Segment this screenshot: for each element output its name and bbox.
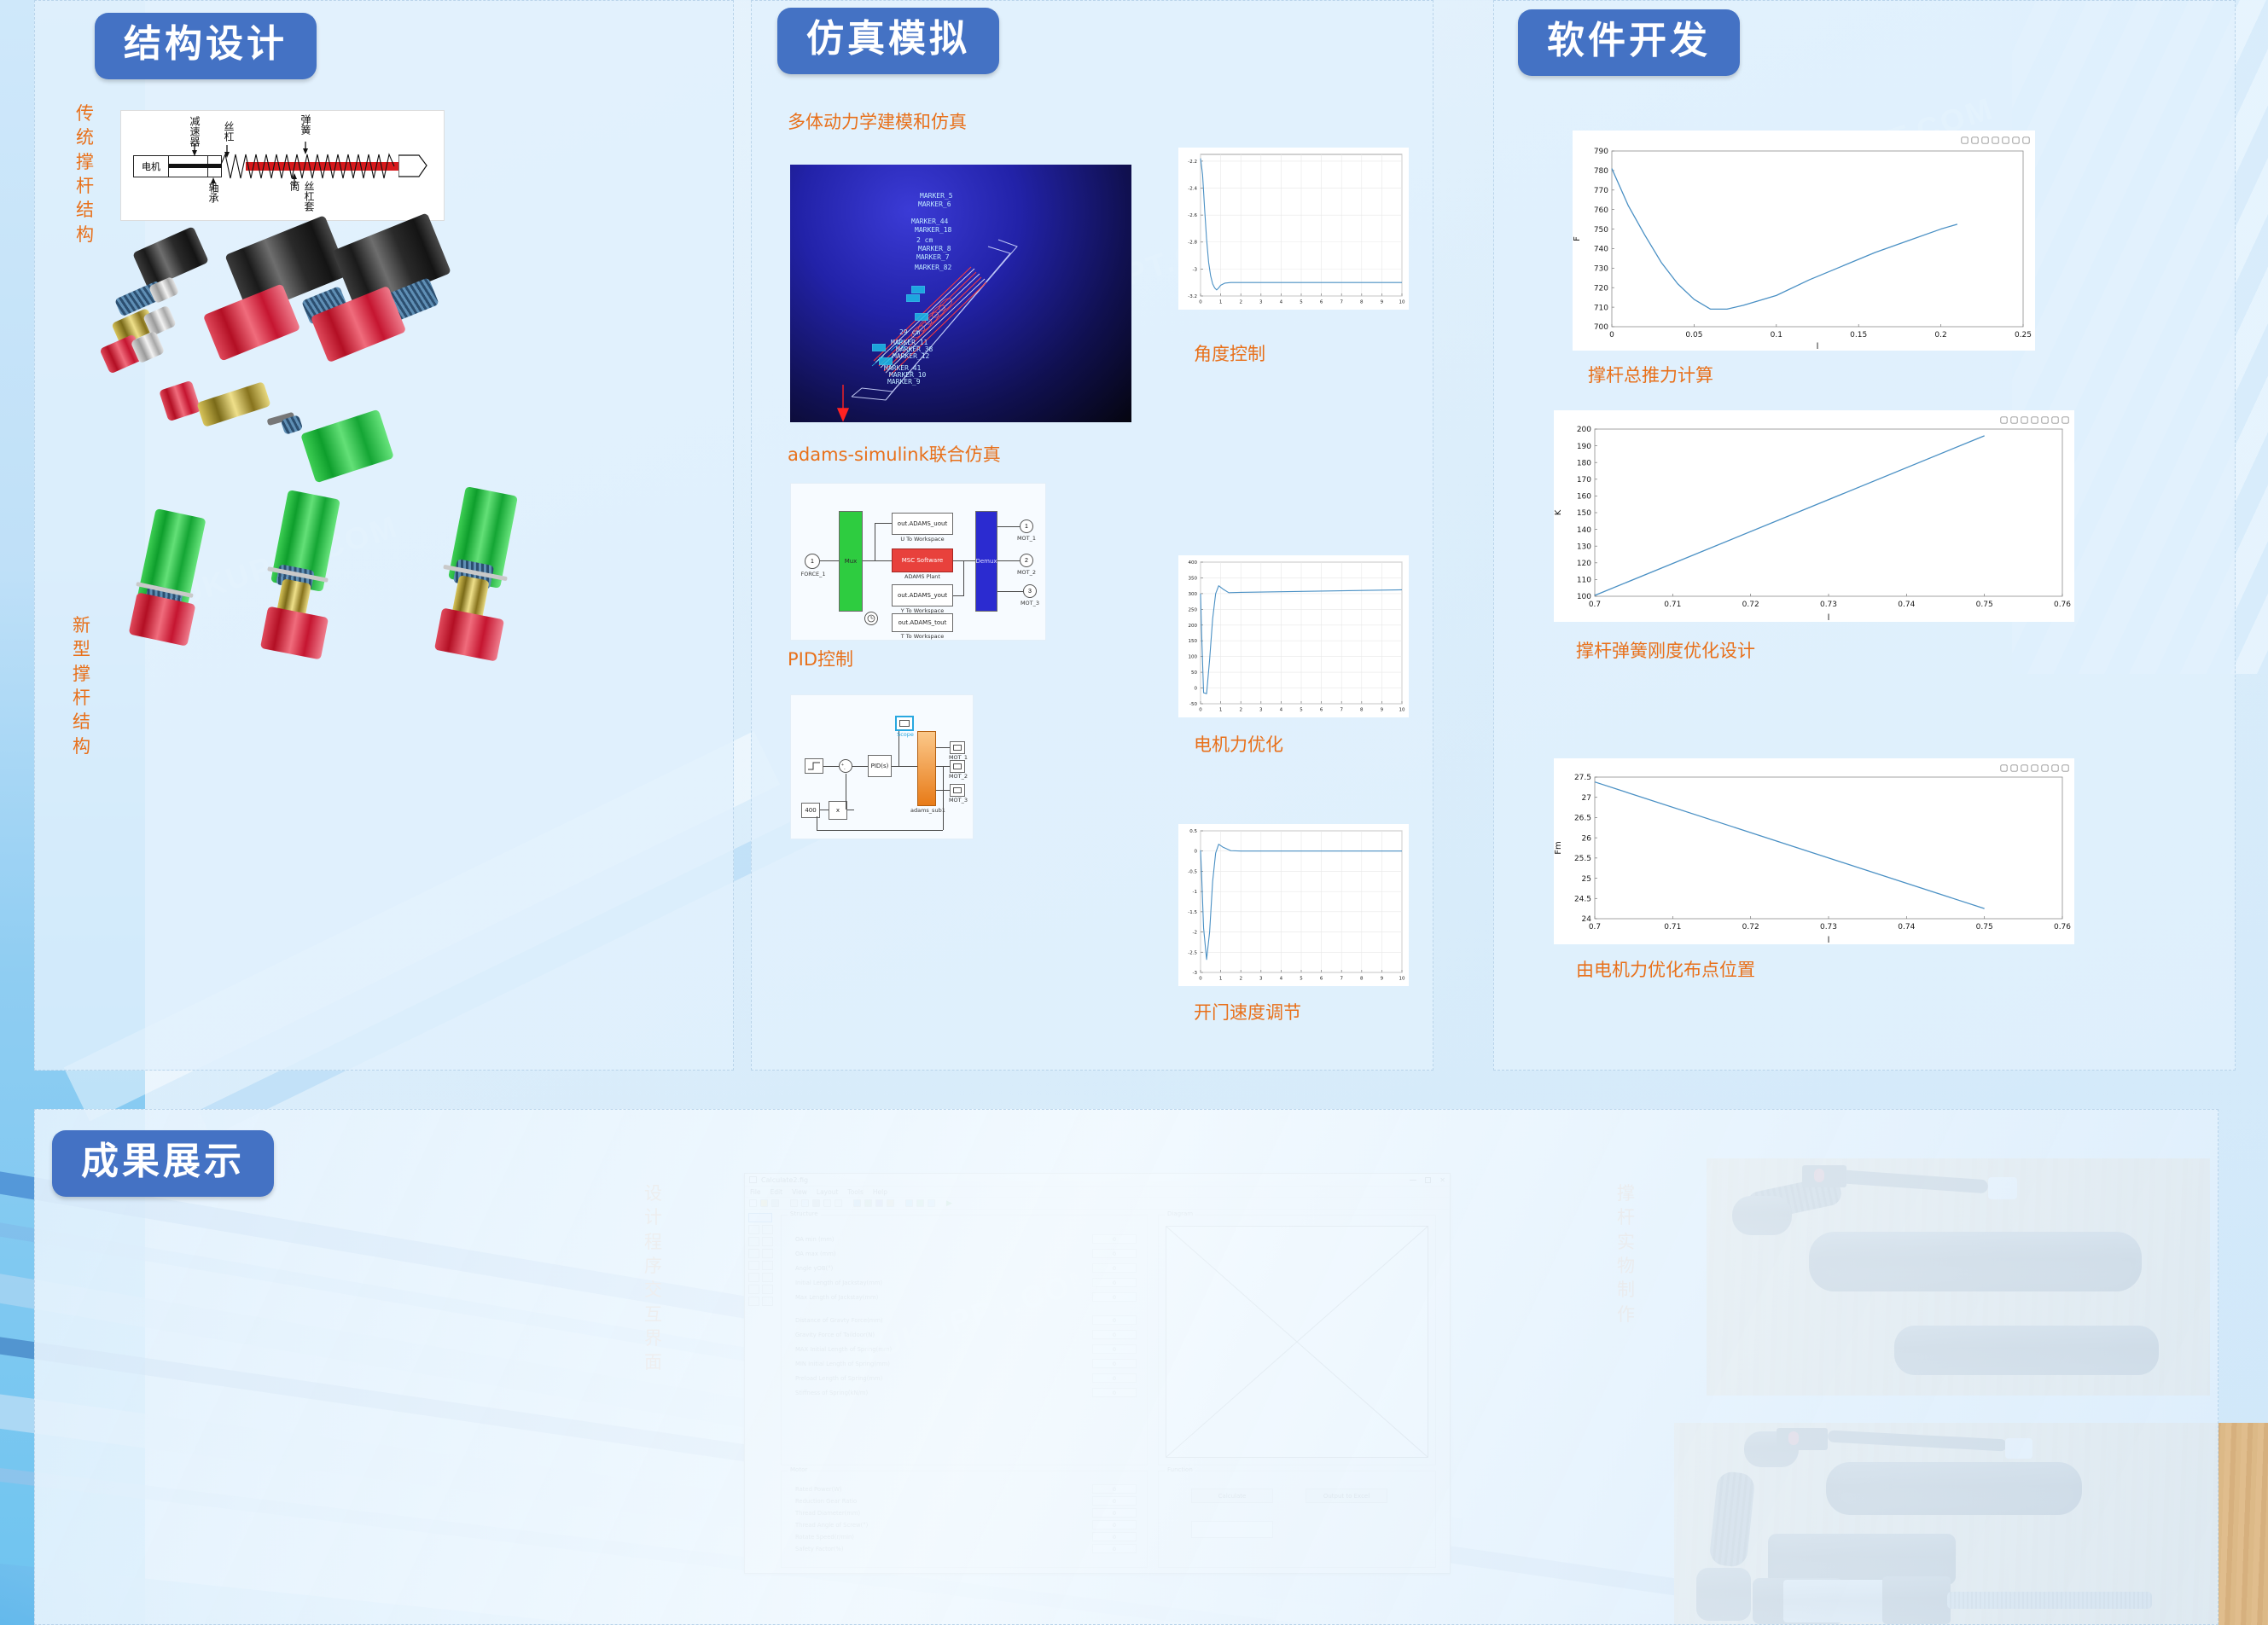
section-badge-software: 软件开发 bbox=[1518, 9, 1740, 76]
legend-icon[interactable] bbox=[2021, 761, 2028, 769]
svg-text:-0.5: -0.5 bbox=[1188, 869, 1197, 874]
pan-icon[interactable] bbox=[2031, 761, 2038, 769]
svg-text:8: 8 bbox=[1360, 708, 1364, 713]
plot-svg: 00.050.10.150.20.25700710720730740750760… bbox=[1573, 131, 2035, 351]
legend-icon[interactable] bbox=[2021, 413, 2028, 421]
plot-motor-force-layout: 0.70.710.720.730.740.750.762424.52525.52… bbox=[1554, 758, 2074, 944]
caption-angle-control: 角度控制 bbox=[1194, 342, 1265, 366]
simulink-adams-subsystem-block bbox=[917, 731, 936, 806]
svg-text:4: 4 bbox=[1280, 708, 1283, 713]
adams-marker-label: MARKER_7 bbox=[916, 253, 950, 261]
svg-text:350: 350 bbox=[1189, 576, 1198, 581]
svg-text:-2.6: -2.6 bbox=[1188, 213, 1197, 218]
svg-text:0: 0 bbox=[1199, 977, 1202, 982]
svg-text:0.72: 0.72 bbox=[1742, 923, 1759, 931]
svg-text:2: 2 bbox=[1239, 708, 1242, 713]
svg-text:6: 6 bbox=[1320, 977, 1323, 982]
svg-text:-3: -3 bbox=[1193, 971, 1198, 976]
cad-green-assembly-3-base bbox=[434, 607, 504, 661]
figure-toolbar[interactable] bbox=[2000, 761, 2069, 769]
simulink-output-label-1: MOT_1 bbox=[1011, 535, 1042, 542]
simulink-input-port: 1 bbox=[805, 554, 820, 569]
simulink-wire bbox=[943, 766, 944, 830]
simulink-u-label: U To Workspace bbox=[892, 536, 953, 543]
svg-text:-2.5: -2.5 bbox=[1188, 950, 1197, 955]
svg-text:-3: -3 bbox=[1193, 267, 1198, 272]
simulink-wire bbox=[997, 526, 1020, 527]
plot-xlabel: l bbox=[1828, 613, 1830, 622]
plot-xlabel: l bbox=[1817, 342, 1819, 351]
simulink-scope-label: Scope bbox=[893, 731, 917, 738]
caption-multibody-dynamics: 多体动力学建模和仿真 bbox=[788, 110, 967, 134]
simulink-clock-icon bbox=[864, 612, 878, 625]
simulink-wire bbox=[875, 523, 892, 524]
svg-text:7: 7 bbox=[1340, 977, 1343, 982]
svg-text:25.5: 25.5 bbox=[1574, 855, 1591, 863]
simulink-output-label-3: MOT_3 bbox=[1015, 600, 1045, 606]
svg-text:0.74: 0.74 bbox=[1898, 923, 1915, 931]
svg-text:200: 200 bbox=[1189, 624, 1198, 629]
svg-text:0.1: 0.1 bbox=[1771, 331, 1782, 340]
svg-text:400: 400 bbox=[1189, 560, 1198, 566]
svg-text:170: 170 bbox=[1577, 476, 1591, 485]
simulink-wire bbox=[936, 747, 950, 748]
svg-text:-2: -2 bbox=[1193, 931, 1197, 936]
simulink-scope-block bbox=[895, 716, 914, 731]
svg-text:0.74: 0.74 bbox=[1898, 601, 1915, 609]
adams-marker-label: MARKER_18 bbox=[915, 226, 951, 234]
plot-total-thrust: 00.050.10.150.20.25700710720730740750760… bbox=[1573, 131, 2035, 351]
simulink-pid-block: PID(s) bbox=[868, 755, 892, 777]
svg-text:9: 9 bbox=[1381, 708, 1384, 713]
svg-text:790: 790 bbox=[1594, 148, 1608, 156]
svg-text:27: 27 bbox=[1582, 794, 1591, 803]
caption-spring-stiffness: 撑杆弹簧刚度优化设计 bbox=[1576, 639, 1755, 663]
svg-text:7: 7 bbox=[1340, 300, 1343, 305]
pan-icon[interactable] bbox=[1992, 133, 1999, 141]
svg-text:4: 4 bbox=[1280, 977, 1283, 982]
adams-marker-label: MARKER_6 bbox=[918, 200, 951, 208]
svg-text:8: 8 bbox=[1360, 977, 1364, 982]
plot-svg: 0.70.710.720.730.740.750.761001101201301… bbox=[1554, 410, 2074, 622]
svg-text:0.76: 0.76 bbox=[2054, 923, 2071, 931]
svg-text:9: 9 bbox=[1381, 977, 1384, 982]
svg-text:-3.2: -3.2 bbox=[1188, 294, 1197, 299]
svg-text:0.25: 0.25 bbox=[2015, 331, 2032, 340]
svg-text:4: 4 bbox=[1280, 300, 1283, 305]
svg-text:100: 100 bbox=[1577, 593, 1591, 601]
svg-text:180: 180 bbox=[1577, 459, 1591, 467]
svg-text:780: 780 bbox=[1594, 167, 1608, 176]
svg-text:250: 250 bbox=[1189, 607, 1198, 612]
caption-door-speed: 开门速度调节 bbox=[1194, 1001, 1301, 1024]
legend-icon[interactable] bbox=[1981, 133, 1989, 141]
simulink-wire bbox=[820, 560, 839, 561]
svg-text:0: 0 bbox=[1195, 687, 1198, 692]
svg-text:0: 0 bbox=[1199, 300, 1202, 305]
svg-text:0.71: 0.71 bbox=[1664, 601, 1681, 609]
svg-text:0.73: 0.73 bbox=[1820, 923, 1837, 931]
svg-text:0.71: 0.71 bbox=[1664, 923, 1681, 931]
section-badge-results: 成果展示 bbox=[52, 1130, 274, 1197]
zoom-out-icon[interactable] bbox=[2051, 761, 2059, 769]
svg-text:-1: -1 bbox=[1193, 890, 1197, 895]
svg-text:10: 10 bbox=[1399, 977, 1405, 982]
adams-marker-box bbox=[906, 294, 920, 302]
adams-marker-label: MARKER_82 bbox=[915, 264, 951, 271]
simulink-wire bbox=[953, 595, 964, 596]
svg-text:0.72: 0.72 bbox=[1742, 601, 1759, 609]
figure-toolbar[interactable] bbox=[1961, 133, 2030, 141]
simulink-wire bbox=[963, 560, 964, 596]
cad-new-part-tube bbox=[300, 409, 394, 484]
svg-text:760: 760 bbox=[1594, 206, 1608, 215]
simulink-sum-block: +- bbox=[839, 759, 852, 773]
zoom-out-icon[interactable] bbox=[2051, 413, 2059, 421]
svg-text:-2.4: -2.4 bbox=[1188, 187, 1197, 192]
simulink-closed-loop-diagram: +- PID(s) Scope adams_sub1 MOT_1 MOT_2 M… bbox=[790, 694, 974, 839]
svg-text:3: 3 bbox=[1259, 300, 1263, 305]
simulink-adams-plant-block: MSC Software bbox=[892, 548, 953, 572]
plot-spring-stiffness: 0.70.710.720.730.740.750.761001101201301… bbox=[1554, 410, 2074, 622]
svg-text:110: 110 bbox=[1577, 577, 1591, 585]
pan-icon[interactable] bbox=[2031, 413, 2038, 421]
cad-assembly-2-base bbox=[203, 283, 300, 361]
svg-text:3: 3 bbox=[1259, 977, 1263, 982]
svg-text:2: 2 bbox=[1239, 300, 1242, 305]
home-icon[interactable] bbox=[2022, 133, 2030, 141]
simulink-wire bbox=[852, 766, 868, 767]
panel-software-development: 软件开发 00.050.10.150.20.257007107207307407… bbox=[1493, 0, 2236, 1071]
svg-text:150: 150 bbox=[1577, 509, 1591, 518]
svg-text:0.7: 0.7 bbox=[1589, 601, 1601, 609]
svg-text:25: 25 bbox=[1582, 875, 1591, 884]
svg-text:100: 100 bbox=[1189, 655, 1198, 660]
svg-text:5: 5 bbox=[1300, 300, 1303, 305]
plot-motor-force: 012345678910-50050100150200250300350400 bbox=[1178, 555, 1409, 717]
svg-text:0: 0 bbox=[1609, 331, 1614, 340]
svg-text:24.5: 24.5 bbox=[1574, 896, 1591, 904]
plot-svg: 012345678910-3-2.5-2-1.5-1-0.500.5 bbox=[1178, 824, 1409, 986]
simulink-t-label: T To Workspace bbox=[892, 633, 953, 640]
svg-text:24: 24 bbox=[1582, 915, 1592, 924]
svg-text:5: 5 bbox=[1300, 977, 1303, 982]
svg-text:26.5: 26.5 bbox=[1574, 815, 1591, 823]
section-badge-simulation: 仿真模拟 bbox=[777, 8, 999, 74]
panel-simulation: 仿真模拟 多体动力学建模和仿真 bbox=[751, 0, 1433, 1071]
simulink-wire bbox=[823, 766, 839, 767]
adams-marker-label: MARKER_5 bbox=[920, 192, 953, 200]
simulink-subsystem-label: adams_sub1 bbox=[910, 807, 945, 814]
caption-total-thrust: 撑杆总推力计算 bbox=[1588, 363, 1713, 387]
cad-green-assembly-2-base bbox=[260, 606, 329, 660]
adams-marker-box bbox=[911, 286, 925, 293]
adams-marker-label: MARKER_8 bbox=[918, 245, 951, 252]
simulink-wire bbox=[997, 591, 1023, 592]
home-icon[interactable] bbox=[2062, 761, 2069, 769]
svg-text:50: 50 bbox=[1191, 670, 1197, 676]
plot-ylabel: F bbox=[1573, 236, 1582, 241]
svg-text:0.76: 0.76 bbox=[2054, 601, 2071, 609]
svg-text:120: 120 bbox=[1577, 560, 1591, 568]
simulink-plant-label: ADAMS Plant bbox=[892, 573, 953, 580]
simulink-output-port-2: 2 bbox=[1020, 554, 1033, 567]
svg-text:140: 140 bbox=[1577, 526, 1591, 535]
simulink-y-to-workspace-block: out.ADAMS_yout bbox=[892, 584, 953, 606]
simulink-scope-mot2 bbox=[950, 760, 965, 773]
svg-text:10: 10 bbox=[1399, 300, 1405, 305]
caption-pid-control: PID控制 bbox=[788, 647, 853, 671]
adams-dimension-label: 2 cm bbox=[916, 236, 933, 244]
section-badge-label: 成果展示 bbox=[52, 1130, 274, 1197]
simulink-scope-mot3 bbox=[950, 784, 965, 797]
svg-text:720: 720 bbox=[1594, 284, 1608, 293]
simulink-output-port-1: 1 bbox=[1020, 519, 1033, 533]
svg-text:190: 190 bbox=[1577, 443, 1591, 451]
zoom-out-icon[interactable] bbox=[2012, 133, 2020, 141]
svg-text:710: 710 bbox=[1594, 304, 1608, 312]
plot-angle-control: 012345678910-3.2-3-2.8-2.6-2.4-2.2 bbox=[1178, 148, 1409, 310]
svg-text:-50: -50 bbox=[1189, 702, 1197, 707]
svg-text:0.73: 0.73 bbox=[1820, 601, 1837, 609]
zoom-in-icon[interactable] bbox=[2041, 761, 2049, 769]
simulink-wire bbox=[817, 830, 943, 831]
simulink-scope-mot1 bbox=[950, 741, 965, 754]
plot-svg: 012345678910-3.2-3-2.8-2.6-2.4-2.2 bbox=[1178, 148, 1409, 310]
datatip-icon[interactable] bbox=[2010, 413, 2018, 421]
simulink-output-label-2: MOT_2 bbox=[1011, 569, 1042, 576]
svg-text:7: 7 bbox=[1340, 708, 1343, 713]
simulink-pid-diagram: 1 FORCE_1 Mux out.ADAMS_uout U To Worksp… bbox=[790, 483, 1046, 641]
simulink-wire bbox=[997, 560, 1020, 561]
svg-text:0: 0 bbox=[1199, 708, 1202, 713]
section-badge-label: 仿真模拟 bbox=[777, 8, 999, 74]
svg-text:6: 6 bbox=[1320, 300, 1323, 305]
svg-text:6: 6 bbox=[1320, 708, 1323, 713]
svg-text:1: 1 bbox=[1219, 300, 1223, 305]
svg-text:0.2: 0.2 bbox=[1934, 331, 1946, 340]
brush-icon[interactable] bbox=[1961, 133, 1969, 141]
datatip-icon[interactable] bbox=[1971, 133, 1979, 141]
svg-text:2: 2 bbox=[1239, 977, 1242, 982]
simulink-product-block: x bbox=[829, 801, 847, 820]
home-icon[interactable] bbox=[2062, 413, 2069, 421]
panel-structure-design: 结构设计 传统撑杆结构 新型撑杆结构 电机 减速器 丝杠 弹簧 轴承 丝杠套筒 bbox=[34, 0, 734, 1071]
simulink-scope-mot3-label: MOT_3 bbox=[946, 797, 970, 804]
adams-dimension-label: 29 cm bbox=[899, 328, 920, 336]
simulink-mux-block: Mux bbox=[839, 511, 863, 612]
svg-text:1: 1 bbox=[1219, 708, 1223, 713]
svg-text:-2.8: -2.8 bbox=[1188, 241, 1197, 246]
brush-icon[interactable] bbox=[2000, 761, 2008, 769]
plot-svg: 012345678910-50050100150200250300350400 bbox=[1178, 555, 1409, 717]
svg-text:700: 700 bbox=[1594, 323, 1608, 332]
adams-marker-label: MARKER_9 bbox=[887, 378, 921, 386]
svg-text:730: 730 bbox=[1594, 265, 1608, 274]
simulink-wire bbox=[875, 523, 875, 560]
brush-icon[interactable] bbox=[2000, 413, 2008, 421]
simulink-output-port-3: 3 bbox=[1023, 584, 1037, 598]
cad-parts-render bbox=[35, 1, 733, 1070]
caption-cosimulation: adams-simulink联合仿真 bbox=[788, 443, 1001, 467]
svg-text:0.75: 0.75 bbox=[1976, 601, 1993, 609]
simulink-scope-mot2-label: MOT_2 bbox=[946, 773, 970, 780]
adams-marker-box bbox=[915, 313, 928, 321]
svg-text:8: 8 bbox=[1360, 300, 1364, 305]
svg-text:0.75: 0.75 bbox=[1976, 923, 1993, 931]
svg-text:0.5: 0.5 bbox=[1189, 829, 1197, 834]
datatip-icon[interactable] bbox=[2010, 761, 2018, 769]
cad-new-part-base bbox=[159, 380, 201, 422]
caption-motor-force: 电机力优化 bbox=[1194, 733, 1283, 757]
svg-text:160: 160 bbox=[1577, 493, 1591, 502]
svg-text:9: 9 bbox=[1381, 300, 1384, 305]
plot-svg: 0.70.710.720.730.740.750.762424.52525.52… bbox=[1554, 758, 2074, 944]
svg-text:-: - bbox=[844, 767, 846, 771]
panel-results-showcase: 成果展示 bbox=[34, 1109, 2219, 1625]
simulink-u-to-workspace-block: out.ADAMS_uout bbox=[892, 513, 953, 535]
simulink-wire bbox=[892, 766, 917, 767]
simulink-input-label: FORCE_1 bbox=[795, 571, 831, 577]
simulink-step-block bbox=[805, 758, 823, 774]
zoom-in-icon[interactable] bbox=[2002, 133, 2009, 141]
simulink-wire bbox=[863, 560, 892, 561]
svg-text:0: 0 bbox=[1195, 850, 1198, 855]
plot-ylabel: K bbox=[1554, 509, 1563, 515]
figure-toolbar[interactable] bbox=[2000, 413, 2069, 421]
simulink-wire bbox=[820, 810, 829, 810]
simulink-wire bbox=[953, 560, 975, 561]
adams-marker-label: MARKER_12 bbox=[893, 352, 929, 360]
svg-text:750: 750 bbox=[1594, 226, 1608, 235]
caption-layout-optimization: 由电机力优化布点位置 bbox=[1576, 958, 1755, 982]
svg-text:-1.5: -1.5 bbox=[1188, 910, 1197, 915]
simulink-t-to-workspace-block: out.ADAMS_tout bbox=[892, 613, 953, 632]
svg-text:130: 130 bbox=[1577, 543, 1591, 551]
cad-new-part-screw bbox=[196, 381, 270, 427]
plot-xlabel: l bbox=[1828, 936, 1830, 944]
svg-text:740: 740 bbox=[1594, 246, 1608, 254]
adams-model-viewport: MARKER_5 MARKER_6 MARKER_44 MARKER_18 MA… bbox=[790, 165, 1131, 422]
zoom-in-icon[interactable] bbox=[2041, 413, 2049, 421]
svg-text:1: 1 bbox=[1219, 977, 1223, 982]
simulink-wire bbox=[847, 810, 854, 810]
simulink-wire bbox=[846, 774, 846, 810]
svg-text:10: 10 bbox=[1399, 708, 1405, 713]
section-badge-label: 软件开发 bbox=[1518, 9, 1740, 76]
svg-text:0.7: 0.7 bbox=[1589, 923, 1601, 931]
svg-text:200: 200 bbox=[1577, 426, 1591, 434]
svg-text:3: 3 bbox=[1259, 708, 1263, 713]
svg-text:0.05: 0.05 bbox=[1685, 331, 1702, 340]
adams-marker-label: MARKER_44 bbox=[911, 218, 948, 225]
adams-mechanism-wireframe bbox=[790, 165, 1131, 422]
svg-text:150: 150 bbox=[1189, 639, 1198, 644]
svg-text:770: 770 bbox=[1594, 187, 1608, 195]
adams-marker-box bbox=[872, 344, 886, 351]
svg-text:5: 5 bbox=[1300, 708, 1303, 713]
plot-door-speed: 012345678910-3-2.5-2-1.5-1-0.500.5 bbox=[1178, 824, 1409, 986]
svg-text:26: 26 bbox=[1582, 834, 1592, 843]
plot-ylabel: Fm bbox=[1554, 841, 1563, 855]
svg-text:-2.2: -2.2 bbox=[1188, 160, 1197, 165]
svg-text:27.5: 27.5 bbox=[1574, 774, 1591, 782]
svg-text:300: 300 bbox=[1189, 592, 1198, 597]
simulink-demux-block: Demux bbox=[975, 511, 997, 612]
svg-text:0.15: 0.15 bbox=[1850, 331, 1867, 340]
simulink-wire bbox=[817, 816, 817, 830]
